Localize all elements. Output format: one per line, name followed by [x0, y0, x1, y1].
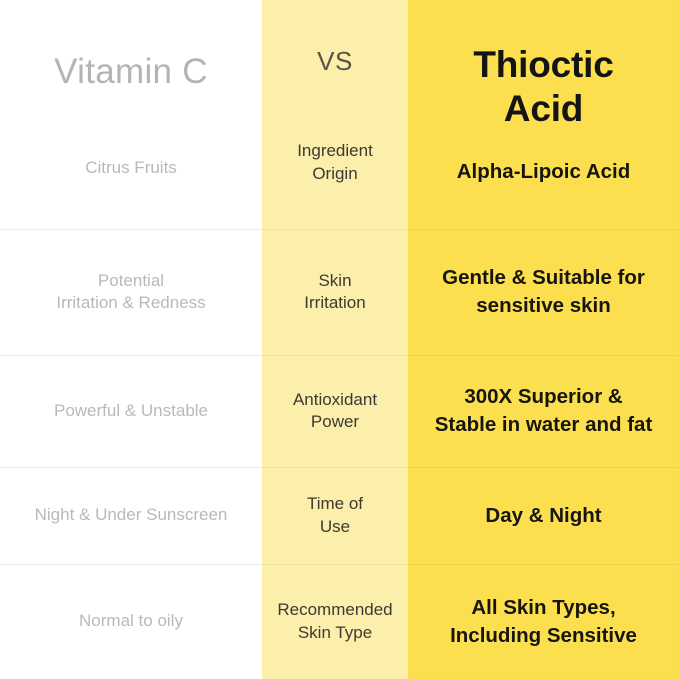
column-header-vitamin-c: Vitamin C	[10, 49, 252, 95]
table-row-cell-middle: Skin Irritation	[262, 229, 408, 355]
table-row-cell-left: Normal to oily	[0, 564, 262, 679]
table-row-cell-right: Day & Night	[408, 467, 679, 564]
table-row-cell-middle: Recommended Skin Type	[262, 564, 408, 679]
ingredient-comparison-table: Vitamin C Citrus Fruits VS Ingredient Or…	[0, 0, 679, 679]
table-row-cell-left: Night & Under Sunscreen	[0, 467, 262, 564]
table-row-cell-right: All Skin Types, Including Sensitive	[408, 564, 679, 679]
cell-middle-row-3-line2: Power	[272, 411, 398, 433]
table-row-cell-right: Gentle & Suitable for sensitive skin	[408, 229, 679, 355]
column-header-vs: VS	[272, 44, 398, 78]
cell-right-row-5-line2: Including Sensitive	[418, 622, 669, 650]
table-row-cell-left: Powerful & Unstable	[0, 355, 262, 467]
cell-left-row-3: Powerful & Unstable	[10, 400, 252, 422]
table-row-cell-middle: Antioxidant Power	[262, 355, 408, 467]
table-grid: Vitamin C Citrus Fruits VS Ingredient Or…	[0, 0, 679, 679]
cell-left-row-4: Night & Under Sunscreen	[10, 504, 252, 526]
cell-left-row-2-line2: Irritation & Redness	[10, 292, 252, 314]
cell-right-row-2-line1: Gentle & Suitable for	[418, 264, 669, 292]
column-header-thioctic-acid-line2: Acid	[418, 87, 669, 131]
cell-middle-row-2-line2: Irritation	[272, 292, 398, 314]
header-cell-right: Thioctic Acid Alpha-Lipoic Acid	[408, 0, 679, 229]
cell-right-row-4: Day & Night	[418, 502, 669, 530]
cell-right-row-3-line1: 300X Superior &	[418, 383, 669, 411]
column-header-thioctic-acid-line1: Thioctic	[418, 43, 669, 87]
cell-right-row-3-line2: Stable in water and fat	[418, 411, 669, 439]
cell-middle-row-3-line1: Antioxidant	[272, 389, 398, 411]
cell-right-row-5-line1: All Skin Types,	[418, 594, 669, 622]
table-row-cell-middle: Time of Use	[262, 467, 408, 564]
header-cell-middle: VS Ingredient Origin	[262, 0, 408, 229]
cell-right-row-1: Alpha-Lipoic Acid	[418, 158, 669, 186]
header-cell-left: Vitamin C Citrus Fruits	[0, 0, 262, 229]
table-row-cell-left: Potential Irritation & Redness	[0, 229, 262, 355]
cell-middle-row-1-line2: Origin	[272, 163, 398, 185]
cell-middle-row-5-line1: Recommended	[272, 599, 398, 621]
cell-middle-row-4-line2: Use	[272, 516, 398, 538]
cell-left-row-1: Citrus Fruits	[10, 157, 252, 179]
cell-right-row-2-line2: sensitive skin	[418, 292, 669, 320]
cell-left-row-5: Normal to oily	[10, 610, 252, 632]
table-row-cell-right: 300X Superior & Stable in water and fat	[408, 355, 679, 467]
cell-middle-row-4-line1: Time of	[272, 493, 398, 515]
cell-middle-row-2-line1: Skin	[272, 270, 398, 292]
cell-left-row-2-line1: Potential	[10, 270, 252, 292]
cell-middle-row-1-line1: Ingredient	[272, 140, 398, 162]
cell-middle-row-5-line2: Skin Type	[272, 622, 398, 644]
